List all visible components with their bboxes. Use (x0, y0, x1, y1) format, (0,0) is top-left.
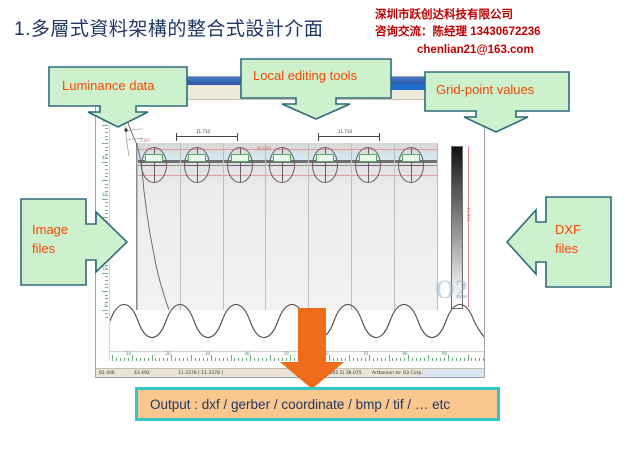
page-title: 1.多層式資料架構的整合式設計介面 (14, 14, 323, 41)
callout-luminance-label: Luminance data (62, 78, 155, 93)
hruler-tick (389, 355, 390, 361)
hruler-tick (448, 355, 449, 361)
grid-point-value-box[interactable] (316, 154, 334, 162)
hruler-tick (187, 358, 188, 361)
vruler-tick (105, 287, 108, 288)
dimension-pitch-label: 11.710 (338, 129, 352, 134)
hruler-tick (456, 358, 457, 361)
dimension-line-pitch (318, 136, 380, 137)
hruler-label: 90 (442, 351, 447, 356)
company-email: chenlian21@163.com (417, 43, 635, 58)
hruler-tick (175, 358, 176, 361)
vruler-tick (105, 295, 108, 296)
company-info-block: 深圳市跃创达科技有限公司 咨询交流：陈经理 13430672236 chenli… (375, 8, 635, 58)
hruler-tick (148, 358, 149, 361)
grid-point-ellipse[interactable] (227, 147, 253, 183)
grid-point-value-box[interactable] (359, 154, 377, 162)
hruler-tick (167, 358, 168, 361)
hruler-tick (436, 358, 437, 361)
down-arrow-callout-shape-3 (424, 71, 570, 133)
vruler-tick (105, 147, 108, 148)
hruler-tick (246, 358, 247, 361)
vruler-tick (105, 298, 108, 299)
grid-point-ellipse[interactable] (355, 147, 381, 183)
hruler-tick (120, 358, 121, 361)
hruler-tick (254, 358, 255, 361)
vruler-tick (105, 317, 108, 318)
hruler-tick (471, 358, 472, 361)
status-y: 43.492 (134, 369, 150, 378)
vruler-tick (102, 310, 108, 311)
hruler-tick (266, 358, 267, 361)
callout-dxf-files-label-1: DXF (555, 222, 581, 237)
hruler-tick (124, 358, 125, 361)
hruler-label: 40 (245, 351, 250, 356)
hruler-tick (152, 355, 153, 361)
plate-gridline (265, 143, 266, 310)
grid-point-ellipse[interactable] (398, 147, 424, 183)
hruler-tick (231, 355, 232, 361)
hruler-tick (444, 358, 445, 361)
vruler-tick (105, 136, 108, 137)
vruler-tick (102, 143, 108, 144)
callout-luminance-data[interactable]: Luminance data (48, 66, 188, 128)
hruler-tick (171, 355, 172, 361)
hruler-label: 10 (126, 351, 131, 356)
hruler-label: 70 (363, 351, 368, 356)
dimension-tick-right-2 (379, 133, 380, 141)
hruler-tick (116, 358, 117, 361)
status-note: Artbonian to: O2 Corp. (372, 369, 423, 378)
status-progress-fill (424, 369, 484, 377)
vruler-tick (105, 302, 108, 303)
vruler-tick (105, 154, 108, 155)
hruler-tick (238, 358, 239, 361)
hruler-tick (242, 358, 243, 361)
hruler-tick (483, 358, 484, 361)
hruler-tick (475, 358, 476, 361)
hruler-tick (262, 358, 263, 361)
grid-value-label: 92.000 (257, 146, 271, 151)
vruler-tick (105, 187, 108, 188)
plate-gridline (223, 143, 224, 310)
hruler-tick (250, 355, 251, 361)
grid-point-ellipse[interactable] (184, 147, 210, 183)
hruler-tick (183, 358, 184, 361)
company-contact: 咨询交流：陈经理 13430672236 (375, 25, 635, 40)
hruler-tick (353, 358, 354, 361)
status-x: 81.406 (99, 369, 115, 378)
callout-grid-point-values[interactable]: Grid-point values (424, 71, 570, 133)
grid-point-value-box[interactable] (402, 154, 420, 162)
thickness-dimension-line (468, 146, 469, 307)
hruler-tick (144, 358, 145, 361)
vruler-tick (105, 173, 108, 174)
hruler-tick (468, 355, 469, 361)
hruler-tick (203, 358, 204, 361)
hruler-label: 80 (403, 351, 408, 356)
hruler-tick (207, 358, 208, 361)
hruler-tick (404, 358, 405, 361)
hruler-tick (400, 358, 401, 361)
hruler-tick (381, 358, 382, 361)
hruler-tick (412, 358, 413, 361)
hruler-tick (112, 355, 113, 361)
dimension-width-label: 11.710 (196, 129, 210, 134)
dimension-tick-right (237, 133, 238, 141)
hruler-tick (416, 358, 417, 361)
hruler-tick (219, 358, 220, 361)
hruler-tick (274, 358, 275, 361)
vruler-tick (105, 306, 108, 307)
callout-dxf-files-label-2: files (555, 241, 578, 256)
callout-dxf-files[interactable]: DXF files (506, 196, 612, 288)
hruler-tick (396, 358, 397, 361)
grid-point-value-box[interactable] (188, 154, 206, 162)
app-watermark: O2 (435, 275, 468, 305)
callout-grid-point-label: Grid-point values (436, 82, 534, 97)
hruler-tick (211, 355, 212, 361)
hruler-tick (227, 358, 228, 361)
dimension-tick-left (176, 133, 177, 141)
vruler-tick (102, 162, 108, 163)
hruler-tick (234, 358, 235, 361)
hruler-label: 30 (205, 351, 210, 356)
hruler-tick (223, 358, 224, 361)
plate-gridline (180, 143, 181, 310)
hruler-tick (479, 358, 480, 361)
hruler-tick (155, 358, 156, 361)
callout-image-files-label-2: files (32, 241, 55, 256)
hruler-tick (179, 358, 180, 361)
vruler-tick (105, 176, 108, 177)
hruler-tick (270, 355, 271, 361)
hruler-tick (452, 358, 453, 361)
callout-local-editing-label: Local editing tools (253, 68, 357, 83)
hruler-tick (361, 358, 362, 361)
output-box: Output : dxf / gerber / coordinate / bmp… (135, 387, 500, 421)
hruler-tick (392, 358, 393, 361)
dimension-tick-left-2 (318, 133, 319, 141)
hruler-tick (159, 358, 160, 361)
vruler-tick (105, 128, 108, 129)
hruler-tick (199, 358, 200, 361)
hruler-tick (432, 358, 433, 361)
grid-point-ellipse[interactable] (312, 147, 338, 183)
vruler-tick (102, 291, 108, 292)
output-text: Output : dxf / gerber / coordinate / bmp… (150, 397, 450, 412)
hruler-tick (191, 355, 192, 361)
hruler-tick (128, 358, 129, 361)
thickness-dimension-label: 126.19 (467, 208, 472, 222)
vruler-tick (105, 195, 108, 196)
grid-point-ellipse[interactable] (269, 147, 295, 183)
callout-image-files-label-1: Image (32, 222, 68, 237)
slide-root: 1.多層式資料架構的整合式設計介面 深圳市跃创达科技有限公司 咨询交流：陈经理 … (0, 0, 640, 469)
vruler-tick (105, 169, 108, 170)
hruler-tick (215, 358, 216, 361)
vruler-tick (105, 132, 108, 133)
hruler-tick (408, 355, 409, 361)
vruler-tick (105, 158, 108, 159)
hruler-tick (163, 358, 164, 361)
hruler-tick (464, 358, 465, 361)
hruler-tick (377, 358, 378, 361)
vruler-tick (102, 180, 108, 181)
plate-gridline (308, 143, 309, 310)
callout-local-editing-tools[interactable]: Local editing tools (240, 58, 392, 120)
grid-point-value-box[interactable] (273, 154, 291, 162)
vruler-tick (105, 191, 108, 192)
company-name: 深圳市跃创达科技有限公司 (375, 8, 635, 23)
hruler-tick (132, 355, 133, 361)
dimension-line-width (176, 136, 238, 137)
grid-point-value-box[interactable] (231, 154, 249, 162)
callout-image-files[interactable]: Image files (20, 198, 128, 286)
hruler-tick (258, 358, 259, 361)
down-arrow-callout-shape (48, 66, 188, 128)
vruler-tick (105, 165, 108, 166)
hruler-tick (428, 355, 429, 361)
hruler-label: 20 (166, 351, 171, 356)
hruler-tick (460, 358, 461, 361)
hruler-tick (136, 358, 137, 361)
vruler-tick (105, 139, 108, 140)
vruler-tick (105, 184, 108, 185)
vruler-tick (105, 313, 108, 314)
hruler-tick (440, 358, 441, 361)
hruler-tick (373, 358, 374, 361)
output-down-arrow-icon (278, 308, 346, 390)
plate-gridline (394, 143, 395, 310)
hruler-tick (349, 355, 350, 361)
hruler-tick (357, 358, 358, 361)
status-z: 11.3378 [ 11.3378 ] (178, 369, 223, 378)
hruler-tick (365, 358, 366, 361)
design-plate[interactable]: 92.000 (136, 143, 438, 310)
hruler-tick (424, 358, 425, 361)
hruler-tick (385, 358, 386, 361)
hruler-tick (369, 355, 370, 361)
hruler-tick (420, 358, 421, 361)
plate-gridline (351, 143, 352, 310)
hruler-tick (140, 358, 141, 361)
hruler-tick (195, 358, 196, 361)
vruler-tick (105, 150, 108, 151)
